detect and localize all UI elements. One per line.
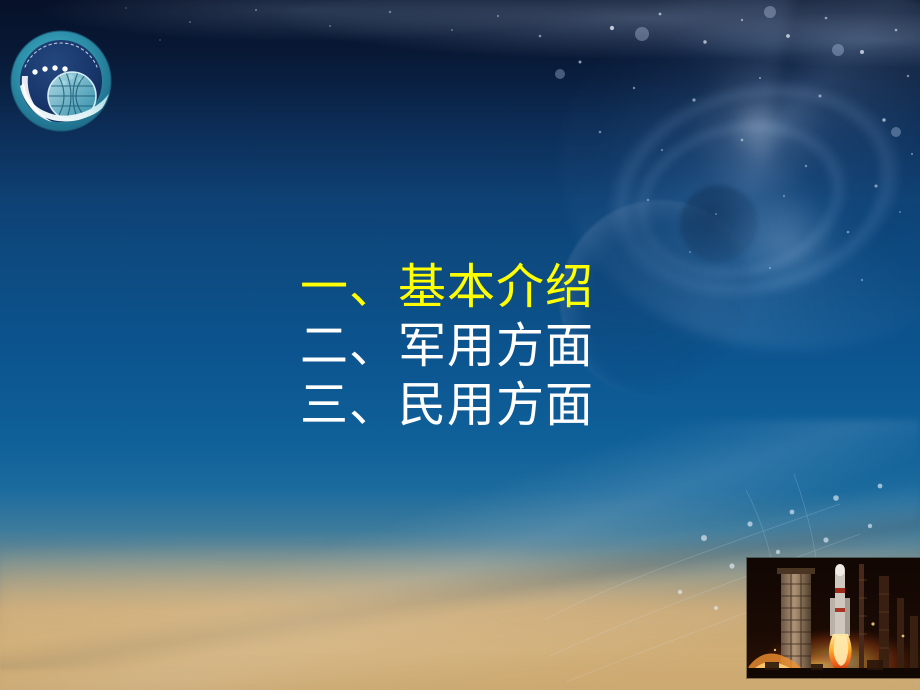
agenda-list: 一、基本介绍 二、军用方面 三、民用方面: [300, 258, 720, 435]
agenda-item-3[interactable]: 三、民用方面: [300, 376, 720, 435]
rocket-launch-photo: [747, 558, 920, 678]
agenda-item-2[interactable]: 二、军用方面: [300, 317, 720, 376]
nebula-glow: [726, 196, 846, 292]
agenda-item-1[interactable]: 一、基本介绍: [300, 258, 720, 317]
presentation-slide: 一、基本介绍 二、军用方面 三、民用方面: [0, 0, 920, 690]
beidou-logo: [8, 28, 114, 134]
